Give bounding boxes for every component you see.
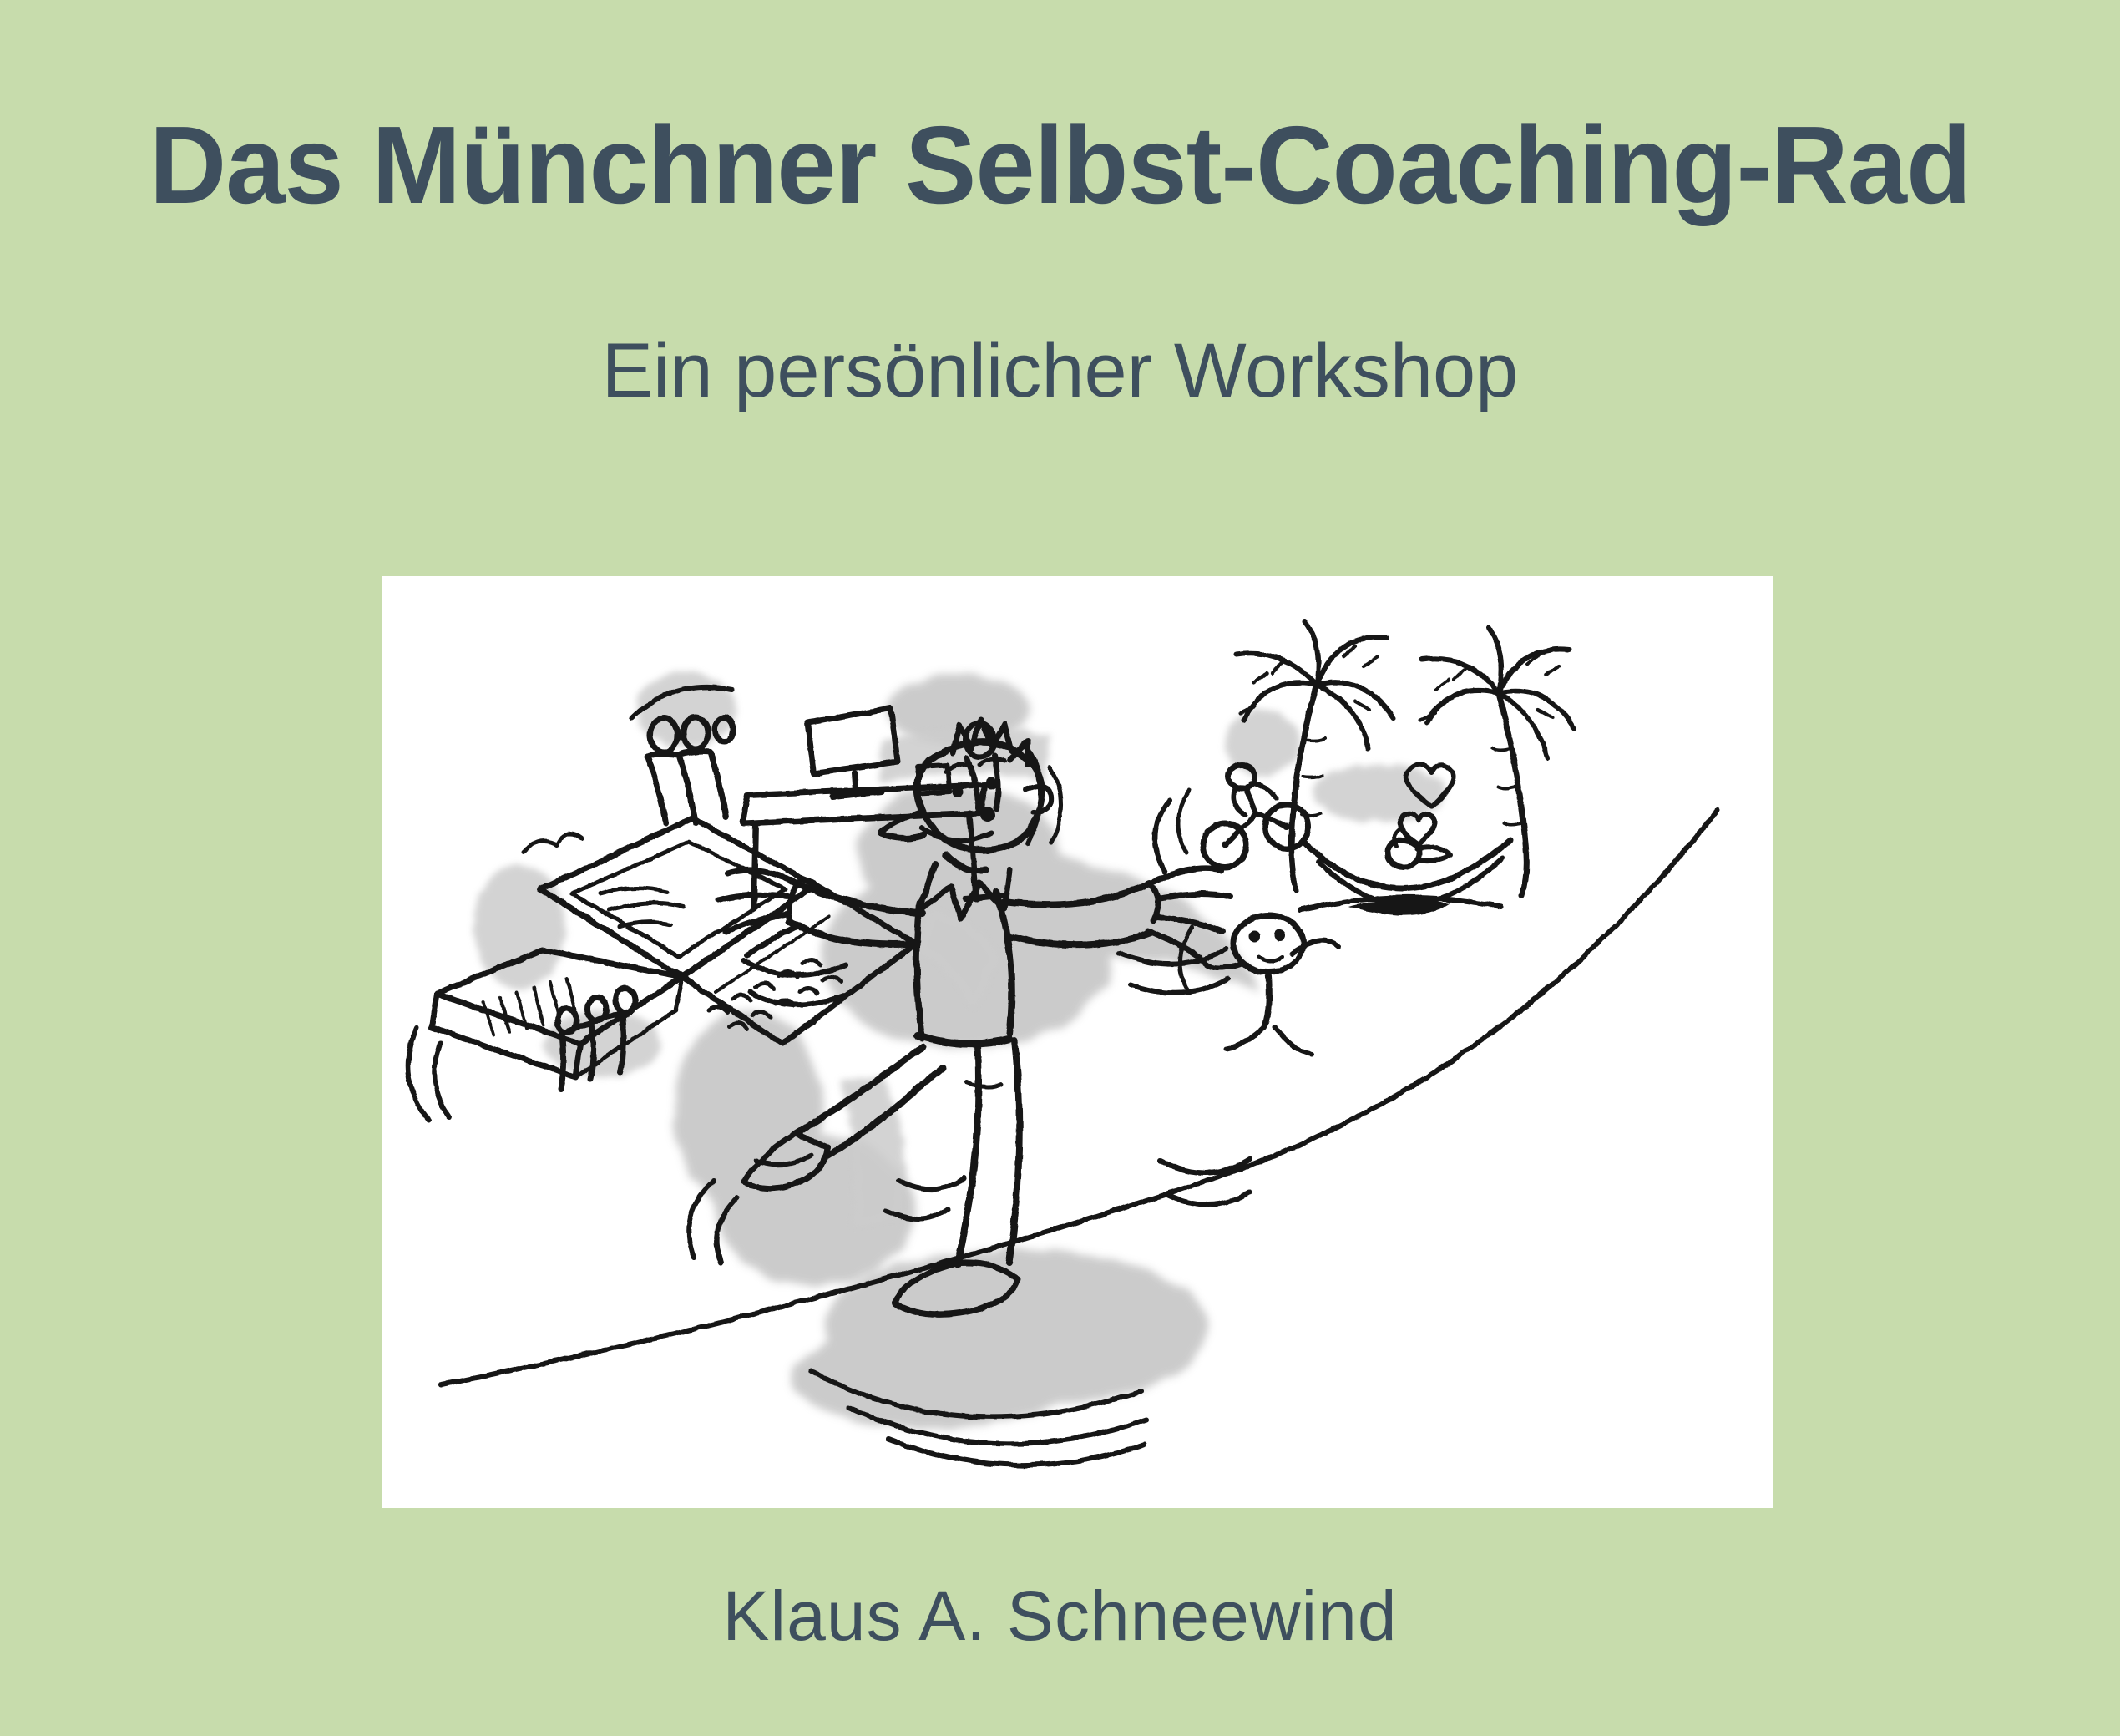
- book-cover: Das Münchner Selbst-Coaching-Rad Ein per…: [0, 0, 2120, 1736]
- tightrope-balance-illustration: [382, 576, 1773, 1508]
- author-name: Klaus A. Schneewind: [0, 1581, 2120, 1651]
- illustration-panel: [382, 576, 1773, 1508]
- page-subtitle: Ein persönlicher Workshop: [0, 332, 2120, 409]
- page-title: Das Münchner Selbst-Coaching-Rad: [32, 110, 2088, 220]
